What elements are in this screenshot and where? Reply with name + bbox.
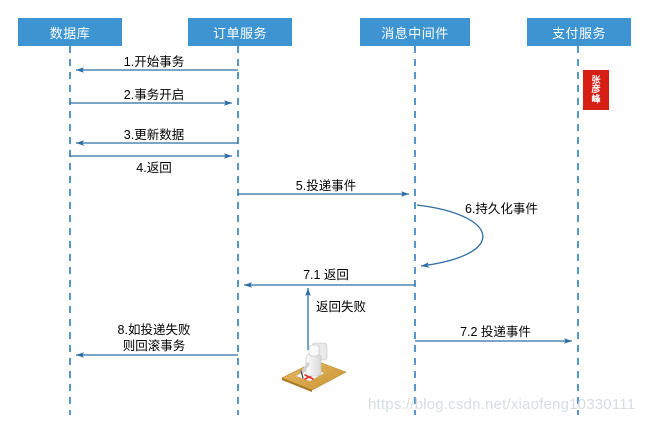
lifeline-label-mq: 消息中间件 bbox=[381, 23, 449, 42]
watermark-text: https://blog.csdn.net/xiaofeng10330111 bbox=[368, 396, 635, 413]
message-label-7-1: 7.1 返回 bbox=[276, 268, 376, 283]
message-text-6: 6.持久化事件 bbox=[465, 202, 538, 216]
lifeline-label-pay: 支付服务 bbox=[552, 23, 606, 42]
seal-char-3: 峰 bbox=[591, 95, 600, 105]
message-label-4: 4.返回 bbox=[104, 161, 204, 176]
message-text-4: 4.返回 bbox=[136, 161, 171, 175]
message-label-3: 3.更新数据 bbox=[104, 128, 204, 143]
message-label-8: 8.如投递失败 则回滚事务 bbox=[104, 322, 204, 354]
message-label-1: 1.开始事务 bbox=[104, 55, 204, 70]
message-label-7-2: 7.2 投递事件 bbox=[443, 325, 548, 340]
lifeline-header-pay[interactable]: 支付服务 bbox=[527, 18, 631, 46]
person-at-desk-rejected-document-icon bbox=[282, 343, 346, 392]
lifeline-header-mq[interactable]: 消息中间件 bbox=[360, 18, 470, 46]
message-label-2: 2.事务开启 bbox=[104, 88, 204, 103]
annotation-label-return-fail: 返回失败 bbox=[316, 300, 386, 315]
message-text-2: 2.事务开启 bbox=[124, 88, 184, 102]
message-label-6: 6.持久化事件 bbox=[465, 202, 575, 217]
seal-characters: 张 彦 峰 bbox=[585, 72, 607, 108]
message-text-8-line1: 8.如投递失败 bbox=[118, 323, 191, 337]
lifeline-label-order: 订单服务 bbox=[213, 23, 267, 42]
message-label-5: 5.投递事件 bbox=[276, 179, 376, 194]
lifeline-header-order[interactable]: 订单服务 bbox=[188, 18, 292, 46]
message-text-8-line2: 则回滚事务 bbox=[123, 339, 186, 353]
lifeline-label-db: 数据库 bbox=[50, 23, 91, 42]
sequence-diagram-canvas: 数据库 订单服务 消息中间件 支付服务 1.开始事务 2.事务开启 3.更新数据… bbox=[0, 0, 646, 421]
lifeline-header-db[interactable]: 数据库 bbox=[18, 18, 122, 46]
message-text-3: 3.更新数据 bbox=[124, 128, 184, 142]
message-text-7-1: 7.1 返回 bbox=[303, 268, 349, 282]
red-seal-stamp-icon: 张 彦 峰 bbox=[583, 70, 609, 110]
annotation-text-return-fail: 返回失败 bbox=[316, 300, 366, 314]
message-text-5: 5.投递事件 bbox=[296, 179, 356, 193]
message-text-1: 1.开始事务 bbox=[124, 55, 184, 69]
message-text-7-2: 7.2 投递事件 bbox=[460, 325, 531, 339]
